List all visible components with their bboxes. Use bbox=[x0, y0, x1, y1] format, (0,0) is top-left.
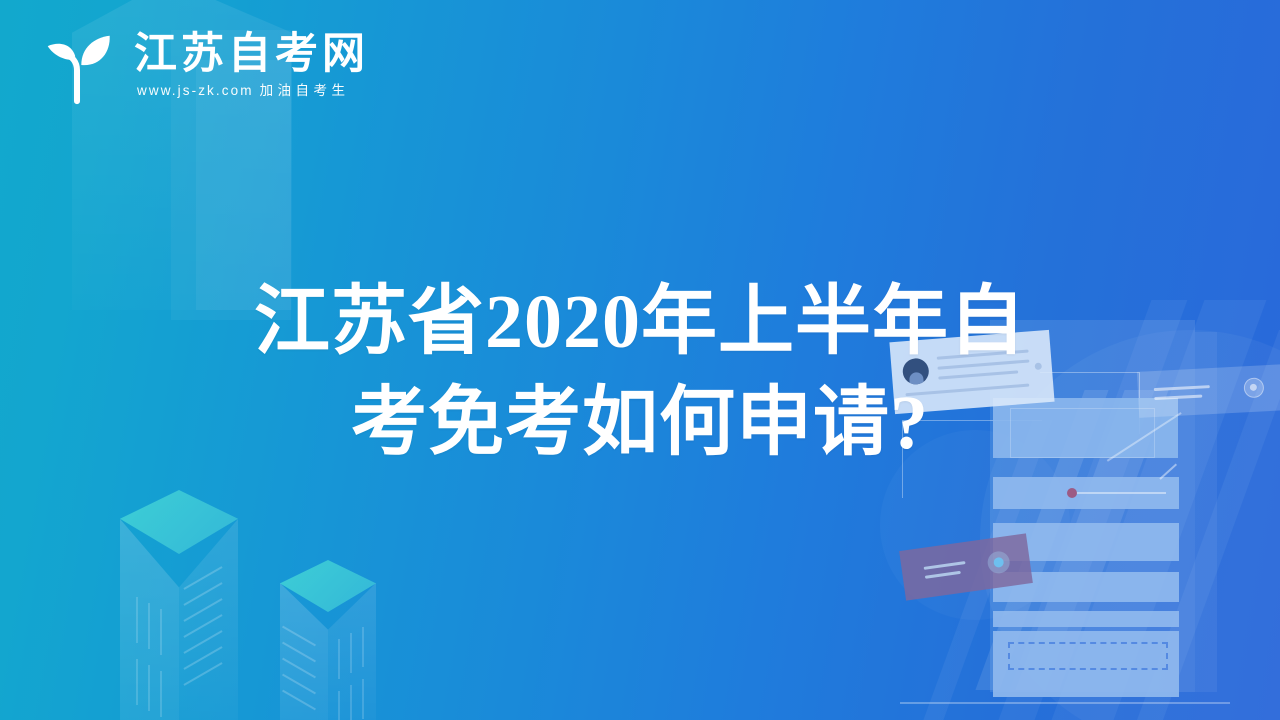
promo-banner: 江苏自考网 www.js-zk.com加油自考生 江苏省2020年上半年自 考免… bbox=[0, 0, 1280, 720]
building-window-lines bbox=[120, 519, 179, 720]
tag-seal-icon bbox=[986, 550, 1011, 575]
brand-name: 江苏自考网 bbox=[134, 31, 369, 77]
isometric-building-large-icon bbox=[100, 490, 260, 720]
card-text-line bbox=[924, 561, 966, 570]
badge-card bbox=[1137, 364, 1280, 418]
page-title-line-2: 考免考如何申请? bbox=[200, 373, 1080, 474]
brand-slogan: 加油自考生 bbox=[260, 83, 350, 98]
isometric-building-small-icon bbox=[264, 560, 394, 720]
card-text-line bbox=[925, 571, 961, 579]
page-title-line-1: 江苏省2020年上半年自 bbox=[200, 272, 1080, 373]
card-text-line bbox=[1154, 395, 1202, 401]
dashed-input-box bbox=[1008, 642, 1168, 670]
building-hatch-lines bbox=[179, 519, 238, 720]
logo-text-group: 江苏自考网 www.js-zk.com加油自考生 bbox=[134, 31, 369, 99]
connector-line bbox=[1076, 492, 1166, 494]
brand-website: www.js-zk.com bbox=[137, 83, 254, 98]
sprout-icon bbox=[34, 22, 120, 108]
badge-seal-icon bbox=[1243, 377, 1264, 398]
document-row-bar bbox=[993, 611, 1179, 627]
site-logo[interactable]: 江苏自考网 www.js-zk.com加油自考生 bbox=[34, 22, 369, 108]
building-left-face bbox=[120, 519, 179, 720]
building-right-face bbox=[179, 519, 238, 720]
marker-dot-icon bbox=[1067, 488, 1077, 498]
card-text-line bbox=[1154, 385, 1210, 391]
baseline-rule bbox=[900, 702, 1230, 704]
brand-tagline: www.js-zk.com加油自考生 bbox=[134, 79, 369, 99]
page-title: 江苏省2020年上半年自 考免考如何申请? bbox=[200, 272, 1080, 474]
